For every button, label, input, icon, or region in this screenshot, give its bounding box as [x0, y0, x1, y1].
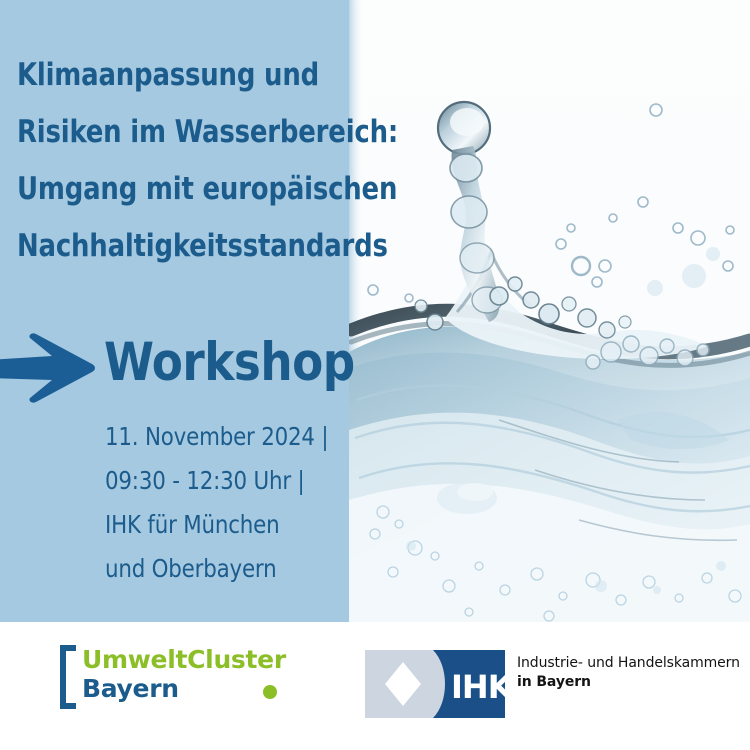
water-splash-photo: [349, 0, 750, 622]
umwelt-cluster-bayern-logo: UmweltCluster Bayern: [60, 645, 300, 709]
ihk-text-line-1: Industrie- und Handelskammern: [517, 654, 742, 673]
arrow-right-glyph: [0, 332, 100, 404]
headline-line-1: Klimaanpassung und: [17, 47, 324, 104]
headline-line-4: Nachhaltigkeitsstandards: [17, 218, 324, 275]
arrow-right-icon: [0, 332, 100, 404]
event-details: 11. November 2024 | 09:30 - 12:30 Uhr | …: [105, 415, 333, 591]
bayern-wordmark: Bayern: [82, 675, 179, 703]
ihk-logo-text: Industrie- und Handelskammern in Bayern: [517, 654, 742, 692]
event-venue-line-1: IHK für München: [105, 503, 333, 547]
bracket-icon: [60, 645, 76, 709]
umwelt-cluster-wordmark: UmweltCluster: [82, 646, 286, 674]
event-venue-line-2: und Oberbayern: [105, 547, 333, 591]
headline-line-3: Umgang mit europäischen: [17, 161, 324, 218]
dot-icon: [263, 685, 277, 699]
ihk-logo-glyph: IHK: [365, 650, 505, 718]
event-date-line: 11. November 2024 |: [105, 415, 333, 459]
poster-canvas: Klimaanpassung und Risiken im Wasserbere…: [0, 0, 750, 750]
ihk-logo-mark: IHK: [365, 650, 505, 718]
headline-line-2: Risiken im Wasserbereich:: [17, 104, 324, 161]
water-splash-illustration: [349, 0, 750, 622]
event-time-line: 09:30 - 12:30 Uhr |: [105, 459, 333, 503]
poster-stage: Klimaanpassung und Risiken im Wasserbere…: [0, 0, 750, 622]
ihk-text-line-2: in Bayern: [517, 673, 742, 692]
page-title: Klimaanpassung und Risiken im Wasserbere…: [17, 47, 324, 275]
ihk-mark-text: IHK: [451, 668, 505, 706]
event-type-label: Workshop: [104, 335, 355, 391]
